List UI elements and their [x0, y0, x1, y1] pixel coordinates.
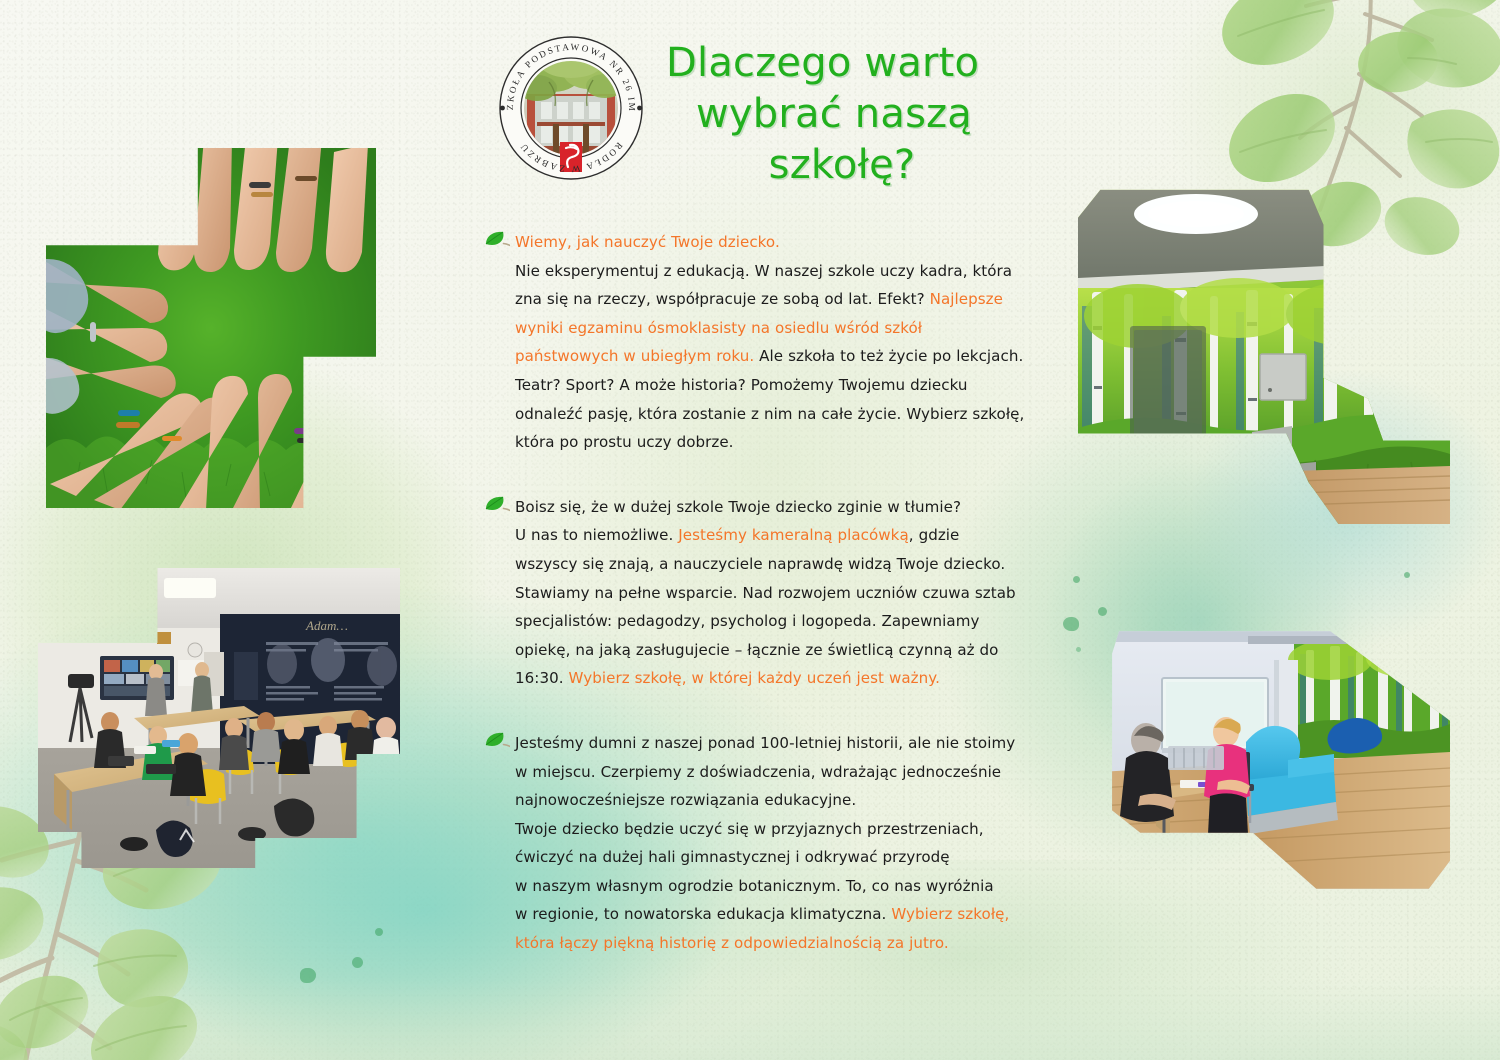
- body-text: najnowocześniejsze rozwiązania edukacyjn…: [515, 791, 856, 809]
- text-line: która łączy piękną historię z odpowiedzi…: [515, 929, 1064, 958]
- body-text: Boisz się, że w dużej szkole Twoje dziec…: [515, 498, 961, 516]
- highlight-text: Jesteśmy kameralną placówką: [678, 526, 909, 544]
- text-line: w naszym własnym ogrodzie botanicznym. T…: [515, 872, 1064, 901]
- text-line: Teatr? Sport? A może historia? Pomożemy …: [515, 371, 1064, 400]
- page-title-line-2: wybrać naszą: [640, 89, 1020, 140]
- highlight-text: która łączy piękną historię z odpowiedzi…: [515, 934, 949, 952]
- text-line: w miejscu. Czerpiemy z doświadczenia, wd…: [515, 758, 1064, 787]
- watercolor-speck: [1098, 607, 1107, 616]
- text-line: w regionie, to nowatorska edukacja klima…: [515, 900, 1064, 929]
- watercolor-speck: [1076, 647, 1081, 652]
- body-text: ćwiczyć na dużej hali gimnastycznej i od…: [515, 848, 950, 866]
- text-line: Nie eksperymentuj z edukacją. W naszej s…: [515, 257, 1064, 286]
- leaf-icon: [484, 496, 510, 512]
- text-line: specjalistów: pedagodzy, psycholog i log…: [515, 607, 1064, 636]
- text-line: Twoje dziecko będzie uczyć się w przyjaz…: [515, 815, 1064, 844]
- watercolor-speck: [1063, 617, 1079, 631]
- text-line: U nas to niemożliwe. Jesteśmy kameralną …: [515, 521, 1064, 550]
- text-line: wyniki egzaminu ósmoklasisty na osiedlu …: [515, 314, 1064, 343]
- body-text: Nie eksperymentuj z edukacją. W naszej s…: [515, 262, 1012, 280]
- body-text: która po prostu uczy dobrze.: [515, 433, 734, 451]
- watercolor-speck: [1404, 572, 1410, 578]
- text-line: ćwiczyć na dużej hali gimnastycznej i od…: [515, 843, 1064, 872]
- text-line: najnowocześniejsze rozwiązania edukacyjn…: [515, 786, 1064, 815]
- text-line: zna się na rzeczy, współpracuje ze sobą …: [515, 285, 1064, 314]
- paragraph: Boisz się, że w dużej szkole Twoje dziec…: [484, 493, 1064, 693]
- text-line: państwowych w ubiegłym roku. Ale szkoła …: [515, 342, 1064, 371]
- highlight-text: państwowych w ubiegłym roku.: [515, 347, 754, 365]
- school-logo: SZKOŁA PODSTAWOWA NR 26 IM. RODŁA W ZABR…: [497, 34, 645, 182]
- leaf-icon: [484, 732, 510, 748]
- body-text: Teatr? Sport? A może historia? Pomożemy …: [515, 376, 968, 394]
- body-text: , gdzie: [909, 526, 960, 544]
- body-text: Ale szkoła to też życie po lekcjach.: [754, 347, 1023, 365]
- body-text: wszyscy się znają, a nauczyciele naprawd…: [515, 555, 1005, 573]
- text-line: Jesteśmy dumni z naszej ponad 100-letnie…: [515, 729, 1064, 758]
- highlight-text: Wybierz szkołę, w której każdy uczeń jes…: [569, 669, 940, 687]
- body-text: opiekę, na jaką zasługujecie – łącznie z…: [515, 641, 998, 659]
- body-text: Jesteśmy dumni z naszej ponad 100-letnie…: [515, 734, 1015, 752]
- body-text: odnaleźć pasję, która zostanie z nim na …: [515, 405, 1024, 423]
- poster-header: SZKOŁA PODSTAWOWA NR 26 IM. RODŁA W ZABR…: [0, 0, 1500, 200]
- text-line: wszyscy się znają, a nauczyciele naprawd…: [515, 550, 1064, 579]
- highlight-text: Wybierz szkołę,: [891, 905, 1009, 923]
- paragraph-text: Jesteśmy dumni z naszej ponad 100-letnie…: [484, 729, 1064, 958]
- body-text: zna się na rzeczy, współpracuje ze sobą …: [515, 290, 930, 308]
- highlight-text: Wiemy, jak nauczyć Twoje dziecko.: [515, 233, 780, 251]
- text-line: która po prostu uczy dobrze.: [515, 428, 1064, 457]
- body-text: w naszym własnym ogrodzie botanicznym. T…: [515, 877, 994, 895]
- text-line: Stawiamy na pełne wsparcie. Nad rozwojem…: [515, 579, 1064, 608]
- poster-canvas: Adam…: [0, 0, 1500, 1060]
- watercolor-speck: [1073, 576, 1080, 583]
- paragraph-text: Wiemy, jak nauczyć Twoje dziecko.Nie eks…: [484, 228, 1064, 457]
- body-text: w regionie, to nowatorska edukacja klima…: [515, 905, 891, 923]
- text-line: odnaleźć pasję, która zostanie z nim na …: [515, 400, 1064, 429]
- body-text: 16:30.: [515, 669, 569, 687]
- body-text: Twoje dziecko będzie uczyć się w przyjaz…: [515, 820, 984, 838]
- watercolor-speck: [352, 957, 363, 968]
- svg-text:Adam…: Adam…: [305, 618, 348, 633]
- watercolor-speck: [375, 928, 383, 936]
- text-line: Wiemy, jak nauczyć Twoje dziecko.: [515, 228, 1064, 257]
- text-line: 16:30. Wybierz szkołę, w której każdy uc…: [515, 664, 1064, 693]
- body-text: U nas to niemożliwe.: [515, 526, 678, 544]
- page-title-line-1: Dlaczego warto: [640, 38, 1020, 89]
- paragraph: Jesteśmy dumni z naszej ponad 100-letnie…: [484, 729, 1064, 958]
- body-text: Stawiamy na pełne wsparcie. Nad rozwojem…: [515, 584, 1016, 602]
- text-line: opiekę, na jaką zasługujecie – łącznie z…: [515, 636, 1064, 665]
- paragraph: Wiemy, jak nauczyć Twoje dziecko.Nie eks…: [484, 228, 1064, 457]
- highlight-text: Najlepsze: [930, 290, 1003, 308]
- leaf-icon: [484, 231, 510, 247]
- highlight-text: wyniki egzaminu ósmoklasisty na osiedlu …: [515, 319, 922, 337]
- paragraph-text: Boisz się, że w dużej szkole Twoje dziec…: [484, 493, 1064, 693]
- body-text: specjalistów: pedagodzy, psycholog i log…: [515, 612, 979, 630]
- body-text: w miejscu. Czerpiemy z doświadczenia, wd…: [515, 763, 1001, 781]
- text-line: Boisz się, że w dużej szkole Twoje dziec…: [515, 493, 1064, 522]
- body-copy: Wiemy, jak nauczyć Twoje dziecko.Nie eks…: [484, 228, 1064, 958]
- page-title: Dlaczego warto wybrać naszą szkołę?: [640, 38, 1020, 192]
- page-title-line-3: szkołę?: [640, 140, 1020, 191]
